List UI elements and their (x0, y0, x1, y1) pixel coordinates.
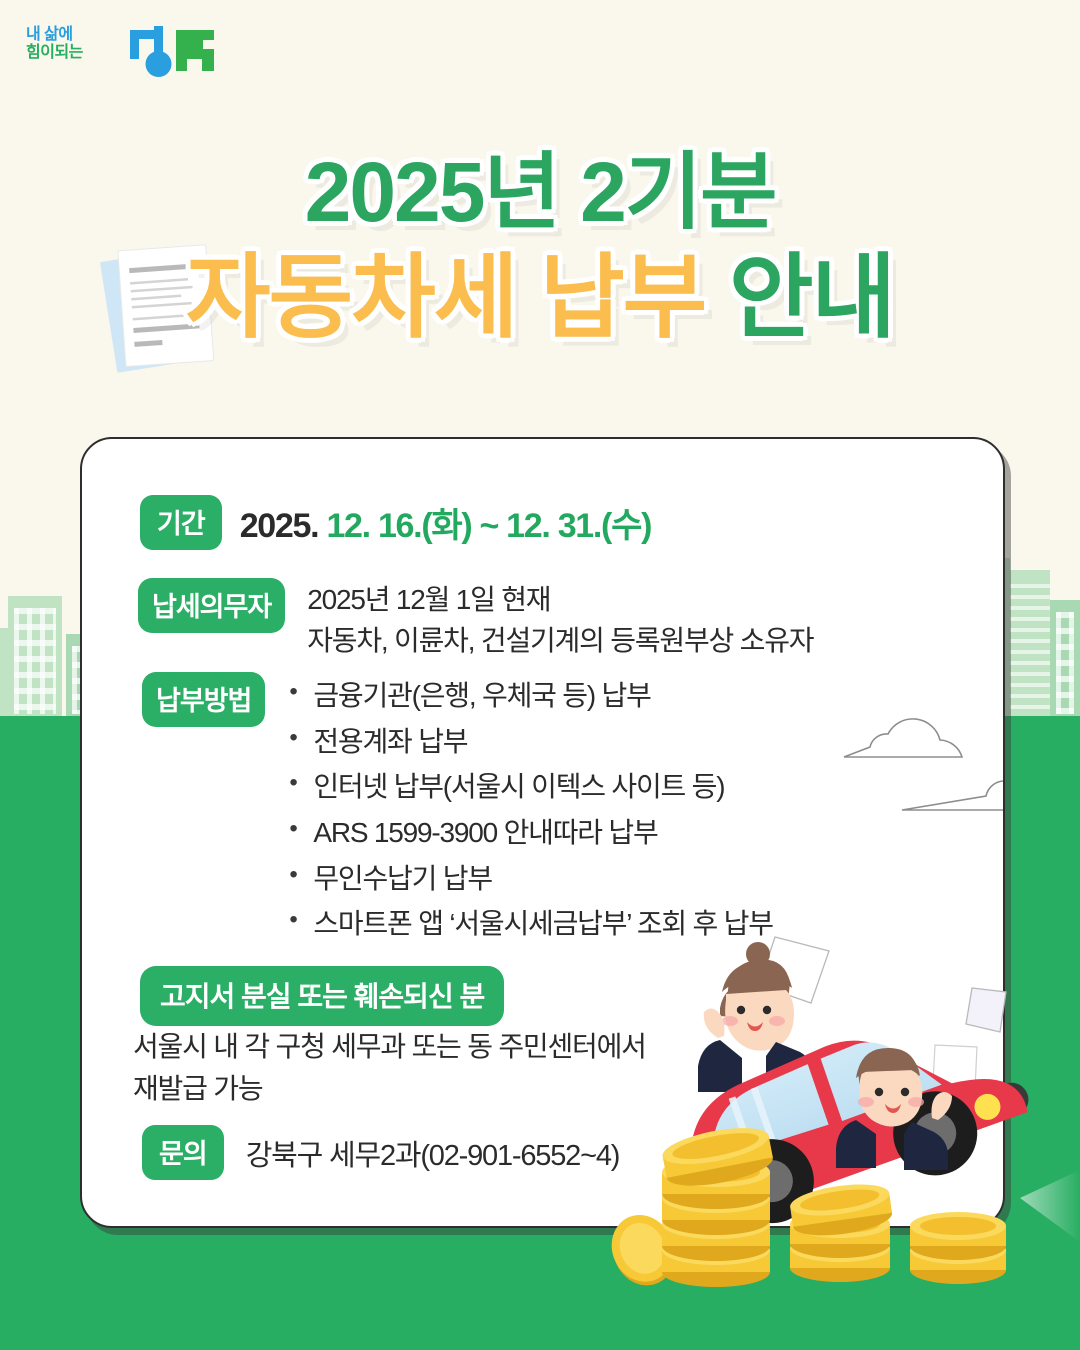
taxpayer-badge: 납세의무자 (138, 578, 285, 633)
logo-slogan-line2: 힘이되는 (26, 44, 83, 62)
payment-method-row: 납부방법 금융기관(은행, 우체국 등) 납부 전용계좌 납부 인터넷 납부(서… (142, 672, 773, 947)
gangbuk-mark-icon (124, 24, 224, 84)
taxpayer-row: 납세의무자 2025년 12월 1일 현재 자동차, 이륜차, 건설기계의 등록… (138, 578, 813, 661)
payment-method-badge: 납부방법 (142, 672, 265, 727)
period-row: 기간 2025. 12. 16.(화) ~ 12. 31.(수) (140, 495, 651, 550)
taxpayer-line-2: 자동차, 이륜차, 건설기계의 등록원부상 소유자 (307, 625, 813, 656)
poster-canvas: 내 삶에 힘이되는 2025년 2기분 자동차세 납 (0, 0, 1080, 1350)
poster-title: 2025년 2기분 자동차세 납부 안내 (0, 150, 1080, 344)
list-item: 금융기관(은행, 우체국 등) 납부 (285, 673, 772, 719)
lost-notice-text: 서울시 내 각 구청 세무과 또는 동 주민센터에서 재발급 가능 (133, 1026, 646, 1110)
list-item: 스마트폰 앱 ‘서울시세금납부’ 조회 후 납부 (285, 901, 772, 947)
logo-slogan: 내 삶에 힘이되는 (26, 26, 83, 62)
title-line-2-green: 안내 (729, 247, 894, 349)
payment-method-list: 금융기관(은행, 우체국 등) 납부 전용계좌 납부 인터넷 납부(서울시 이텍… (285, 673, 772, 947)
inquiry-row: 문의 강북구 세무2과(02-901-6552~4) (142, 1125, 619, 1180)
title-line-1: 2025년 2기분 (0, 150, 1080, 234)
list-item: 전용계좌 납부 (285, 719, 772, 765)
period-value: 2025. 12. 16.(화) ~ 12. 31.(수) (240, 498, 651, 547)
title-line-2-orange: 자동차세 납부 (186, 247, 705, 349)
period-badge: 기간 (140, 495, 222, 550)
taxpayer-line-1: 2025년 12월 1일 현재 (307, 584, 550, 615)
period-dates: 12. 16.(화) ~ 12. 31.(수) (326, 507, 651, 545)
list-item: 무인수납기 납부 (285, 856, 772, 902)
lost-notice-line-2: 재발급 가능 (133, 1073, 262, 1104)
taxpayer-description: 2025년 12월 1일 현재 자동차, 이륜차, 건설기계의 등록원부상 소유… (307, 580, 813, 661)
list-item: ARS 1599-3900 안내따라 납부 (285, 810, 772, 856)
inquiry-badge: 문의 (142, 1125, 224, 1180)
lost-notice-line-1: 서울시 내 각 구청 세무과 또는 동 주민센터에서 (133, 1031, 646, 1062)
period-year: 2025. (240, 507, 319, 545)
inquiry-contact: 강북구 세무2과(02-901-6552~4) (246, 1132, 620, 1174)
lost-notice-badge: 고지서 분실 또는 훼손되신 분 (140, 966, 504, 1026)
logo-slogan-line1: 내 삶에 (26, 26, 83, 44)
cloud-decoration-icon (842, 709, 1005, 819)
list-item: 인터넷 납부(서울시 이텍스 사이트 등) (285, 764, 772, 810)
gangbuk-logo: 내 삶에 힘이되는 (26, 24, 226, 86)
title-line-2: 자동차세 납부 안내 (0, 252, 1080, 344)
